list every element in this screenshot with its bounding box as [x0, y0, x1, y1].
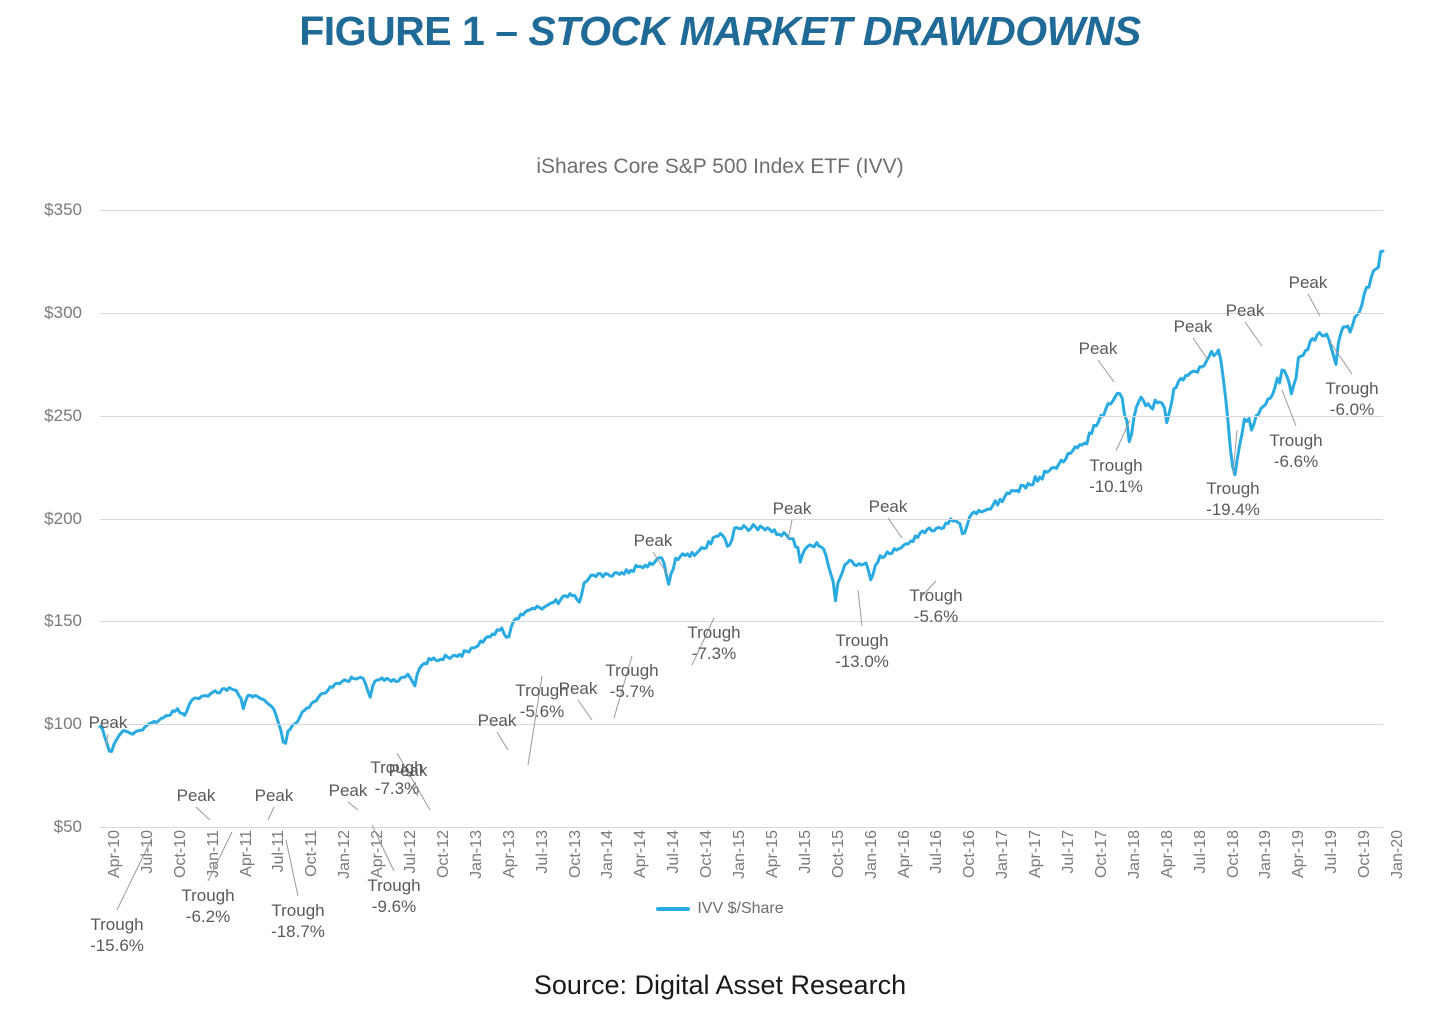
annotation-leader-line — [208, 832, 232, 881]
annotation-leader-line — [1245, 322, 1262, 346]
annotation-leader-line — [196, 807, 210, 820]
annotation-leader-line — [286, 840, 298, 896]
annotation-leader-line — [1330, 342, 1352, 374]
annotation-leader-line — [372, 825, 394, 871]
annotation-leader-line — [1193, 338, 1208, 360]
annotation-leader-line — [578, 700, 592, 720]
annotation-leader-line — [920, 581, 936, 598]
annotation-leader-line — [692, 618, 714, 665]
annotation-leader-line — [106, 734, 108, 746]
annotation-leader-line — [614, 656, 632, 718]
source-caption: Source: Digital Asset Research — [0, 970, 1440, 1001]
figure-title-lead: FIGURE 1 – — [299, 8, 528, 54]
annotation-leader-line — [528, 676, 542, 765]
annotation-leader-line — [268, 807, 274, 820]
legend-swatch-ivv — [656, 907, 690, 911]
annotation-leader-line — [497, 732, 508, 750]
annotation-leader-line — [788, 520, 792, 540]
legend-label-ivv: IVV $/Share — [697, 900, 783, 917]
chart-container: iShares Core S&P 500 Index ETF (IVV) $50… — [0, 120, 1440, 940]
annotation-leader-line — [1233, 430, 1237, 474]
annotation-leader-line — [1282, 390, 1296, 426]
annotation-leader-line — [1308, 294, 1320, 316]
annotation-leader-line — [397, 753, 430, 810]
annotation-leader-line — [653, 552, 668, 575]
page-title: FIGURE 1 – STOCK MARKET DRAWDOWNS — [0, 8, 1440, 55]
annotation-leader-line — [348, 802, 358, 810]
figure-page: FIGURE 1 – STOCK MARKET DRAWDOWNS iShare… — [0, 0, 1440, 1022]
annotation-leader-line — [1098, 360, 1114, 382]
chart-legend[interactable]: IVV $/Share — [0, 900, 1440, 918]
annotation-leader-line — [408, 782, 418, 796]
figure-title-emphasis: STOCK MARKET DRAWDOWNS — [528, 8, 1140, 54]
annotation-leader-line — [858, 590, 862, 626]
annotation-leader-line — [1116, 420, 1130, 451]
annotation-leader-line — [888, 518, 902, 538]
annotation-leader-lines — [0, 120, 1440, 940]
